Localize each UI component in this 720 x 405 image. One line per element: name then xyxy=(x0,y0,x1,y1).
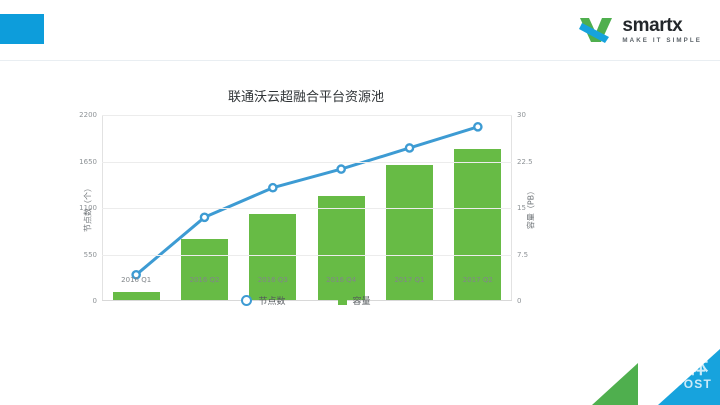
gridline xyxy=(102,208,512,209)
x-tick-2017-Q1: 2017 Q1 xyxy=(375,276,443,284)
x-tick-2016-Q2: 2016 Q2 xyxy=(170,276,238,284)
right-axis-tick: 22.5 xyxy=(517,158,533,166)
left-axis-label: 节点数（个） xyxy=(83,184,94,232)
legend-line-marker-icon xyxy=(241,295,252,306)
brand-logo: smartx MAKE IT SIMPLE xyxy=(578,14,702,46)
x-tick-2017-Q2: 2017 Q2 xyxy=(444,276,512,284)
plot-canvas: 055011001650220007.51522.530 xyxy=(102,115,512,301)
chart-legend: 节点数 容量 xyxy=(56,294,556,307)
watermark-green-triangle-icon xyxy=(592,363,638,405)
legend-label-capacity: 容量 xyxy=(353,294,371,307)
right-axis-tick: 30 xyxy=(517,111,526,119)
line-marker-2016-Q4[interactable] xyxy=(338,166,345,173)
smartx-x-logo-icon xyxy=(578,14,614,46)
brand-text: smartx MAKE IT SIMPLE xyxy=(622,16,702,44)
legend-label-nodes: 节点数 xyxy=(258,294,285,307)
watermark-en: TMTPOST xyxy=(646,378,712,391)
line-marker-2017-Q2[interactable] xyxy=(474,123,481,130)
chart-title: 联通沃云超融合平台资源池 xyxy=(56,86,556,105)
line-path xyxy=(136,127,478,275)
watermark-cn: 钛媒体 xyxy=(646,358,712,378)
legend-bar-swatch-icon xyxy=(338,296,347,305)
left-axis-tick: 1650 xyxy=(79,158,97,166)
brand-name: smartx xyxy=(622,16,702,35)
gridline xyxy=(102,255,512,256)
chart-container: 联通沃云超融合平台资源池 055011001650220007.51522.53… xyxy=(56,86,556,336)
left-axis-tick: 2200 xyxy=(79,111,97,119)
watermark: 钛媒体 TMTPOST xyxy=(592,335,720,405)
line-marker-2017-Q1[interactable] xyxy=(406,144,413,151)
accent-rectangle xyxy=(0,14,44,44)
right-axis-tick: 7.5 xyxy=(517,251,528,259)
gridline xyxy=(102,162,512,163)
gridline xyxy=(102,115,512,116)
right-axis-tick: 15 xyxy=(517,204,526,212)
right-axis-label: 容量（PB） xyxy=(525,187,536,229)
header-divider xyxy=(0,60,720,61)
x-tick-2016-Q1: 2016 Q1 xyxy=(102,276,170,284)
line-marker-2016-Q2[interactable] xyxy=(201,214,208,221)
legend-item-capacity[interactable]: 容量 xyxy=(338,294,371,307)
brand-tagline: MAKE IT SIMPLE xyxy=(622,38,702,44)
line-marker-2016-Q3[interactable] xyxy=(269,184,276,191)
plot-area: 055011001650220007.51522.530 节点数（个） 容量（P… xyxy=(102,115,512,301)
legend-item-nodes[interactable]: 节点数 xyxy=(241,294,285,307)
left-axis-tick: 550 xyxy=(84,251,97,259)
watermark-text: 钛媒体 TMTPOST xyxy=(646,358,712,391)
x-axis-tick-labels: 2016 Q12016 Q22016 Q32016 Q42017 Q12017 … xyxy=(102,276,512,284)
x-tick-2016-Q3: 2016 Q3 xyxy=(239,276,307,284)
slide-canvas: smartx MAKE IT SIMPLE 联通沃云超融合平台资源池 05501… xyxy=(0,0,720,405)
x-tick-2016-Q4: 2016 Q4 xyxy=(307,276,375,284)
